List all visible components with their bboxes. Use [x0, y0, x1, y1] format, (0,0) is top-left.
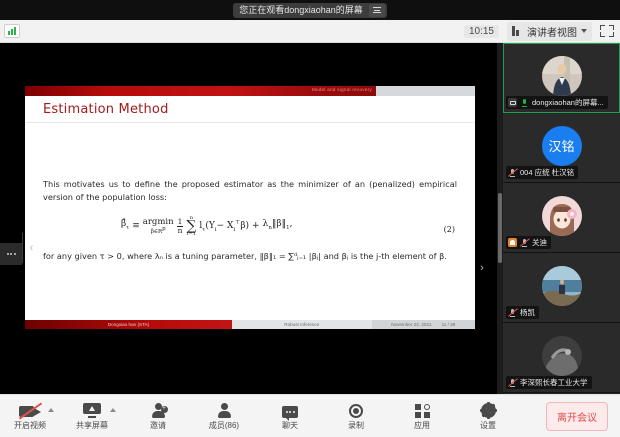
avatar — [542, 196, 582, 236]
record-label: 录制 — [348, 420, 364, 431]
share-screen-icon — [83, 401, 101, 418]
apps-icon — [415, 401, 430, 418]
shared-content-stage: Model and signal recovery Estimation Met… — [0, 43, 503, 394]
participant-tile[interactable]: 关迪 — [503, 183, 620, 253]
meeting-window: 您正在观看dongxiaohan的屏幕 10:15 演讲者视图 Model an… — [0, 0, 620, 437]
record-icon — [349, 401, 363, 418]
slide-nav-text: Model and signal recovery — [312, 87, 372, 92]
hamburger-menu-icon[interactable] — [369, 4, 385, 17]
slide-paragraph-2: for any given τ > 0, where λₙ is a tunin… — [43, 250, 457, 263]
equation-fraction: 1 n — [177, 218, 184, 235]
chevron-left-icon[interactable]: ‹ — [22, 233, 40, 263]
slide-footer: Dongxiao han (STA) Robust Inference Nove… — [25, 320, 475, 329]
equation-number: (2) — [444, 223, 455, 236]
avatar — [542, 336, 582, 376]
equation-argmin: argmin β∈Rp — [143, 218, 174, 236]
participant-label: 004 应统 杜汉铭 — [520, 167, 574, 178]
layout-icon — [512, 26, 523, 36]
participant-label: 李深熙长春工业大学 — [520, 377, 588, 388]
avatar-initials: 汉铭 — [542, 126, 582, 166]
avatar-photo-anime — [542, 196, 582, 236]
chat-label: 聊天 — [282, 420, 298, 431]
participant-name-chip: 关迪 — [506, 236, 551, 249]
slide-header-band: Model and signal recovery — [25, 86, 475, 96]
participants-icon — [217, 401, 232, 418]
invite-button[interactable]: + 邀请 — [136, 395, 180, 437]
participant-name-chip: 李深熙长春工业大学 — [506, 376, 592, 389]
stage-scroll-thumb[interactable] — [498, 193, 502, 263]
start-video-button[interactable]: 开启视频 — [8, 395, 52, 437]
participant-tile[interactable]: 汉铭 004 应统 杜汉铭 — [503, 113, 620, 183]
participant-name-chip: dongxiaohan的屏幕... — [506, 96, 608, 109]
more-options-icon[interactable] — [0, 243, 22, 265]
avatar — [542, 266, 582, 306]
participant-tile[interactable]: dongxiaohan的屏幕... — [503, 43, 620, 113]
meeting-controls-toolbar: 开启视频 共享屏幕 + 邀请 成员(86) — [0, 394, 620, 437]
record-button[interactable]: 录制 — [334, 395, 378, 437]
mic-muted-icon — [508, 378, 517, 387]
share-status-text: 您正在观看dongxiaohan的屏幕 — [239, 3, 363, 18]
settings-button[interactable]: 设置 — [466, 395, 510, 437]
avatar — [542, 56, 582, 96]
chat-button[interactable]: 聊天 — [268, 395, 312, 437]
participant-label: 关迪 — [532, 237, 547, 248]
chevron-up-icon[interactable] — [48, 408, 54, 412]
start-video-label: 开启视频 — [14, 420, 46, 431]
participant-label: 杨凯 — [520, 307, 535, 318]
chevron-up-icon[interactable] — [110, 408, 116, 412]
slide-footer-date: November 22, 2021 — [391, 322, 431, 327]
toolbar-left-group — [0, 24, 20, 38]
settings-gear-icon — [481, 401, 496, 418]
fullscreen-icon[interactable] — [600, 24, 614, 38]
equation-expression: β̂τ ≡ argmin β∈Rp 1 n — [121, 216, 292, 237]
share-banner: 您正在观看dongxiaohan的屏幕 — [0, 0, 620, 20]
mic-muted-icon — [508, 168, 517, 177]
chevron-right-icon[interactable]: › — [473, 253, 491, 283]
settings-label: 设置 — [480, 420, 496, 431]
invite-label: 邀请 — [150, 420, 166, 431]
equation-plus: + — [252, 220, 260, 233]
share-screen-button[interactable]: 共享屏幕 — [70, 395, 114, 437]
share-status-pill[interactable]: 您正在观看dongxiaohan的屏幕 — [233, 3, 387, 18]
avatar: 汉铭 — [542, 126, 582, 166]
mic-on-icon — [520, 98, 529, 107]
slide-footer-page: 11 / 38 — [442, 322, 456, 327]
chat-icon — [282, 401, 298, 418]
toolbar-center-group: 共享屏幕 + 邀请 成员(86) 聊天 — [70, 395, 510, 437]
slide-title-divider — [25, 122, 475, 123]
view-mode-label: 演讲者视图 — [527, 24, 577, 39]
equation-summation: n ∑ i=1 — [186, 216, 196, 237]
leave-meeting-button[interactable]: 离开会议 — [546, 402, 608, 431]
avatar-photo-grey — [542, 336, 582, 376]
participant-name-chip: 杨凯 — [506, 306, 539, 319]
signal-strength-icon[interactable] — [4, 24, 20, 38]
mic-muted-icon — [520, 238, 529, 247]
participant-label: dongxiaohan的屏幕... — [532, 97, 604, 108]
apps-label: 应用 — [414, 420, 430, 431]
chevron-down-icon — [581, 29, 587, 33]
clock-label: 10:15 — [464, 25, 499, 38]
camera-off-icon — [19, 401, 41, 418]
slide-paragraph-1: This motivates us to define the proposed… — [43, 178, 457, 204]
share-screen-label: 共享屏幕 — [76, 420, 108, 431]
participant-name-chip: 004 应统 杜汉铭 — [506, 166, 578, 179]
participant-tile[interactable]: 李深熙长春工业大学 — [503, 323, 620, 393]
slide-footer-meta: November 22, 2021 11 / 38 — [372, 320, 476, 329]
toolbar-right-group: 10:15 演讲者视图 — [464, 22, 620, 41]
slide-footer-title: Robust Inference — [232, 320, 372, 329]
slide-footer-author: Dongxiao han (STA) — [25, 320, 232, 329]
slide-equation: β̂τ ≡ argmin β∈Rp 1 n — [43, 214, 457, 244]
avatar-photo-outdoor — [542, 266, 582, 306]
argmin-subscript: β∈Rp — [151, 227, 166, 235]
participant-tile[interactable]: 杨凯 — [503, 253, 620, 323]
avatar-photo-person — [542, 56, 582, 96]
apps-button[interactable]: 应用 — [400, 395, 444, 437]
slide-title: Estimation Method — [43, 102, 169, 117]
equation-penalty: λn‖β‖1, — [263, 218, 293, 235]
screen-share-icon — [508, 98, 517, 107]
equation-lhs: β̂τ — [121, 218, 129, 235]
presentation-slide: Model and signal recovery Estimation Met… — [25, 86, 475, 329]
participants-rail[interactable]: dongxiaohan的屏幕... 汉铭 004 应统 杜汉铭 — [503, 43, 620, 394]
slide-body: This motivates us to define the proposed… — [43, 178, 457, 263]
mic-muted-icon — [508, 308, 517, 317]
equation-equiv: ≡ — [132, 220, 140, 233]
equation-loss-term: lτ(Yi− Xi⊤β) — [199, 217, 249, 237]
invite-person-icon: + — [151, 401, 166, 418]
participants-label: 成员(86) — [209, 420, 239, 431]
participants-button[interactable]: 成员(86) — [202, 395, 246, 437]
view-mode-select[interactable]: 演讲者视图 — [507, 22, 592, 41]
host-icon — [508, 238, 517, 247]
window-toolbar: 10:15 演讲者视图 — [0, 20, 620, 43]
